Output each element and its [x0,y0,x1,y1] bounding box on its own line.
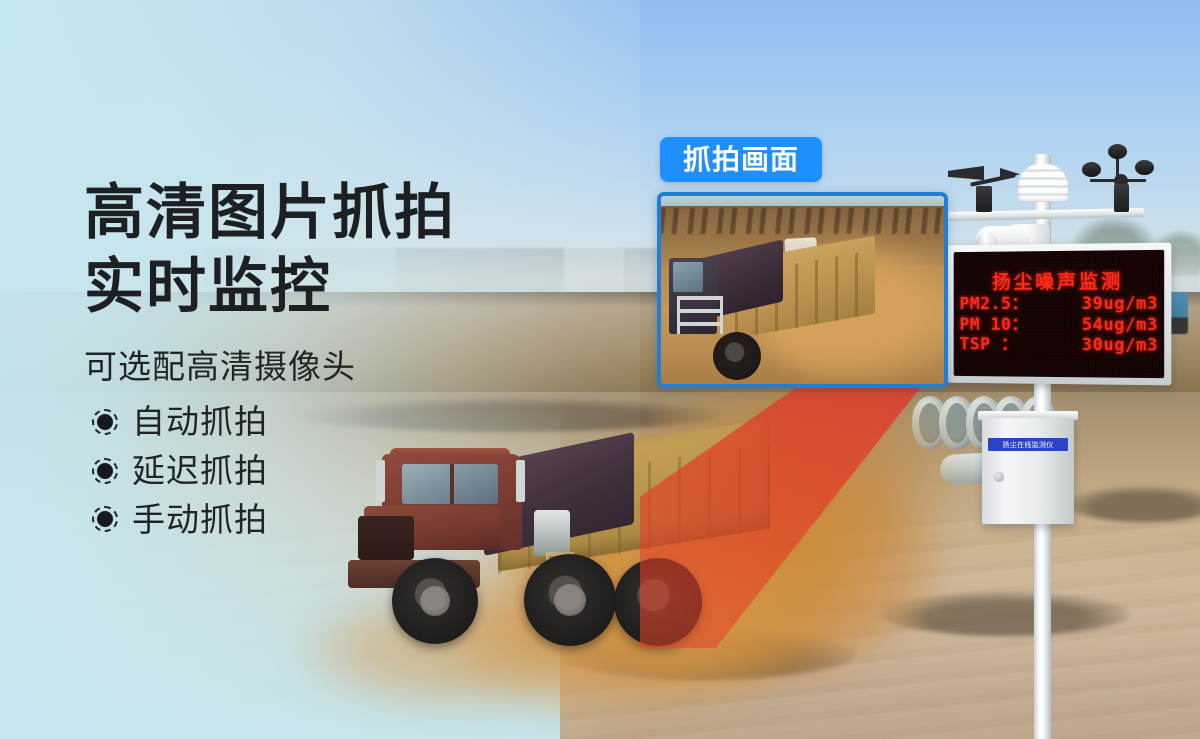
vane-post [976,186,992,212]
inset-truck-window [673,262,703,292]
anemometer-cup [1135,160,1154,175]
led-row-label: PM 10： [959,316,1028,334]
vane-tail [948,166,984,180]
list-item: 手动抓拍 [92,500,554,540]
cabinet-nameplate-text: 扬尘在线监测仪 [1002,440,1053,450]
led-row-label: TSP ： [959,336,1018,354]
anemometer-post [1114,184,1129,212]
feature-list: 自动抓拍 延迟抓拍 手动抓拍 [84,402,554,539]
inset-truck-wheel [713,332,761,380]
led-row: PM 10： 54ug/m3 [959,316,1158,335]
equipment-cabinet: 扬尘在线监测仪 [982,418,1074,524]
cabinet-nameplate: 扬尘在线监测仪 [988,438,1068,451]
wind-vane-icon [948,158,1018,212]
subheadline: 可选配高清摄像头 [84,347,554,387]
dust-monitoring-station: 扬尘噪声监测 PM2.5： 39ug/m3 PM 10： 54ug/m3 TSP… [930,58,1190,739]
capture-badge: 抓拍画面 [660,137,822,182]
led-row-label: PM2.5： [959,296,1028,314]
list-item: 延迟抓拍 [92,451,554,491]
anemometer-cup [1082,162,1101,177]
headline-line-2: 实时监控 [84,250,554,324]
radio-dot-icon [92,458,118,484]
inset-truck-ladder [677,296,723,334]
promo-banner: 扬尘噪声监测 PM2.5： 39ug/m3 PM 10： 54ug/m3 TSP… [0,0,1200,739]
radio-dot-icon [92,409,118,435]
led-display-board: 扬尘噪声监测 PM2.5： 39ug/m3 PM 10： 54ug/m3 TSP… [947,243,1171,386]
led-row-value: 39ug/m3 [1082,295,1158,314]
capture-badge-label: 抓拍画面 [683,146,799,174]
headline-line-1: 高清图片抓拍 [84,176,554,250]
truck-wheel [614,558,702,646]
led-row-value: 30ug/m3 [1082,336,1158,355]
wheel-hub [554,584,586,616]
radio-dot-icon [92,506,118,532]
wheel-hub [420,586,450,616]
led-row-value: 54ug/m3 [1082,316,1158,335]
cabinet-lock-icon [994,472,1004,482]
list-item: 自动抓拍 [92,402,554,442]
feature-label: 手动抓拍 [132,500,268,540]
anemometer-icon [1082,144,1154,218]
anemometer-cup [1108,144,1127,159]
capture-preview-frame [657,192,948,388]
marketing-copy: 高清图片抓拍 实时监控 可选配高清摄像头 自动抓拍 延迟抓拍 手动抓拍 [84,176,554,555]
led-row: TSP ： 30ug/m3 [959,336,1158,355]
led-row: PM2.5： 39ug/m3 [959,295,1158,314]
feature-label: 延迟抓拍 [132,451,268,491]
inset-rock-layer [661,208,944,234]
feature-label: 自动抓拍 [132,402,268,442]
led-title: 扬尘噪声监测 [959,273,1158,294]
led-screen: 扬尘噪声监测 PM2.5： 39ug/m3 PM 10： 54ug/m3 TSP… [954,250,1164,378]
radiation-shield-sensor-icon [1018,164,1068,202]
